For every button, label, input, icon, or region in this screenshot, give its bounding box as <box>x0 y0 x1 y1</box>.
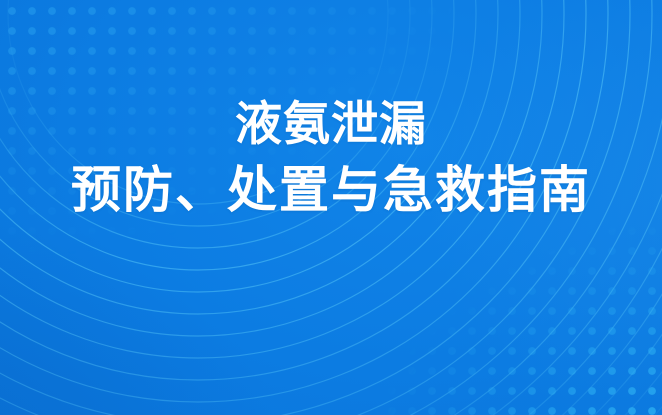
page-title: 液氨泄漏 预防、处置与急救指南 <box>0 92 662 224</box>
title-banner: 液氨泄漏 预防、处置与急救指南 <box>0 0 662 415</box>
title-line-secondary: 预防、处置与急救指南 <box>0 156 662 224</box>
title-line-primary: 液氨泄漏 <box>0 92 662 156</box>
